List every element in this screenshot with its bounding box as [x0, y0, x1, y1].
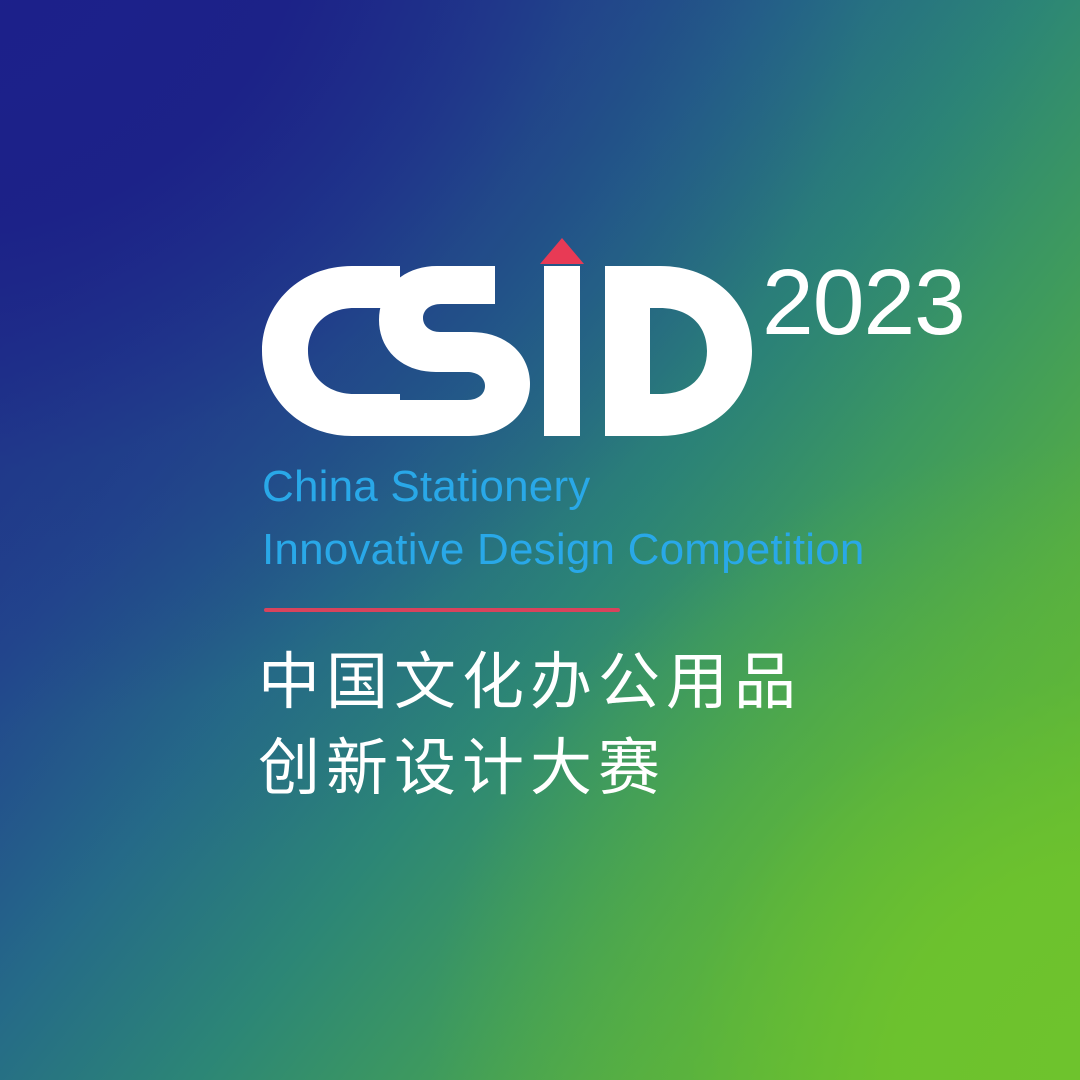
logo-letter-d — [605, 266, 752, 436]
chinese-title-line-1: 中国文化办公用品 — [258, 640, 802, 726]
english-title: China Stationery Innovative Design Compe… — [262, 455, 865, 581]
red-divider-rule — [264, 608, 620, 612]
logo-year: 2023 — [762, 250, 965, 354]
logo-letter-s — [379, 266, 530, 436]
english-title-line-1: China Stationery — [262, 455, 865, 518]
chinese-title: 中国文化办公用品 创新设计大赛 — [258, 640, 802, 812]
english-title-line-2: Innovative Design Competition — [262, 518, 865, 581]
csid-logo-svg: 2023 — [262, 236, 982, 436]
pencil-tip-triangle-icon — [540, 238, 584, 264]
poster-canvas: 2023 China Stationery Innovative Design … — [0, 0, 1080, 1080]
logo-letter-i-stem — [544, 266, 580, 436]
chinese-title-line-2: 创新设计大赛 — [258, 726, 802, 812]
logo-letter-c — [262, 266, 400, 436]
csid-logo: 2023 — [262, 236, 982, 436]
